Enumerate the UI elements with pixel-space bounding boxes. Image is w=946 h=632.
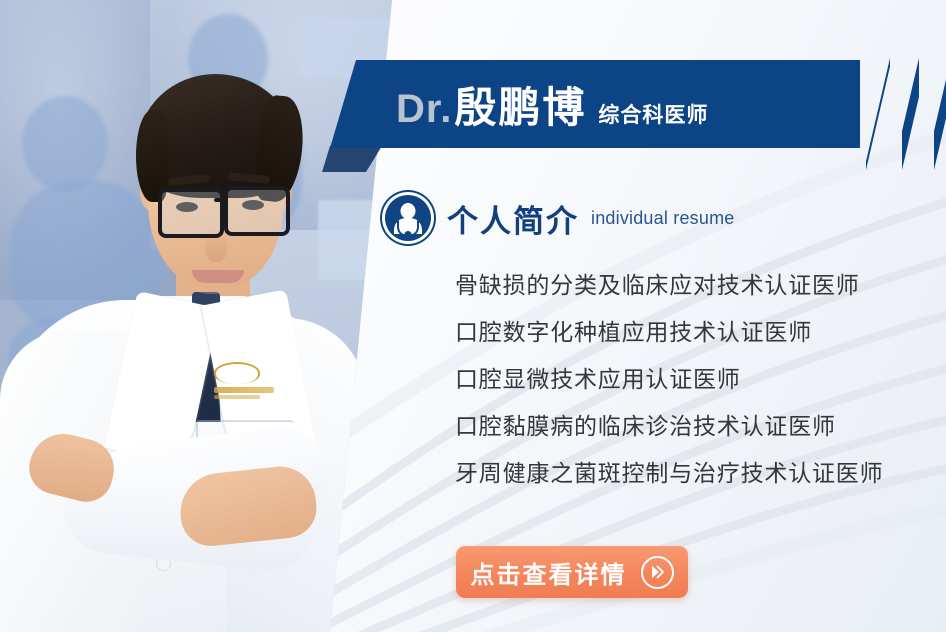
list-item: 口腔显微技术应用认证医师 bbox=[455, 356, 883, 403]
doctor-profile-banner: Dr. 殷鹏博 综合科医师 个人简介 individual resume 骨缺损… bbox=[0, 0, 946, 632]
list-item: 口腔黏膜病的临床诊治技术认证医师 bbox=[455, 403, 883, 450]
doctor-name-banner: Dr. 殷鹏博 综合科医师 bbox=[330, 60, 860, 148]
section-heading: 个人简介 individual resume bbox=[385, 195, 734, 241]
section-title-en: individual resume bbox=[591, 208, 734, 229]
decorative-slashes bbox=[866, 58, 946, 170]
coat-logo-icon bbox=[214, 362, 274, 402]
section-title-cn: 个人简介 bbox=[447, 196, 579, 241]
chevron-double-right-icon bbox=[641, 556, 674, 589]
doctor-prefix: Dr. bbox=[396, 87, 452, 132]
list-item: 口腔数字化种植应用技术认证医师 bbox=[455, 309, 883, 356]
doctor-name: 殷鹏博 bbox=[454, 74, 586, 135]
view-details-button[interactable]: 点击查看详情 bbox=[456, 546, 688, 598]
doctor-badge-icon bbox=[385, 195, 431, 241]
list-item: 牙周健康之菌斑控制与治疗技术认证医师 bbox=[455, 450, 883, 497]
doctor-portrait bbox=[0, 0, 392, 632]
credential-list: 骨缺损的分类及临床应对技术认证医师 口腔数字化种植应用技术认证医师 口腔显微技术… bbox=[455, 262, 883, 497]
doctor-department-title: 综合科医师 bbox=[598, 99, 708, 129]
view-details-label: 点击查看详情 bbox=[471, 555, 627, 590]
doctor-photo-panel bbox=[0, 0, 392, 632]
eyeglasses-icon bbox=[158, 188, 224, 238]
list-item: 骨缺损的分类及临床应对技术认证医师 bbox=[455, 262, 883, 309]
